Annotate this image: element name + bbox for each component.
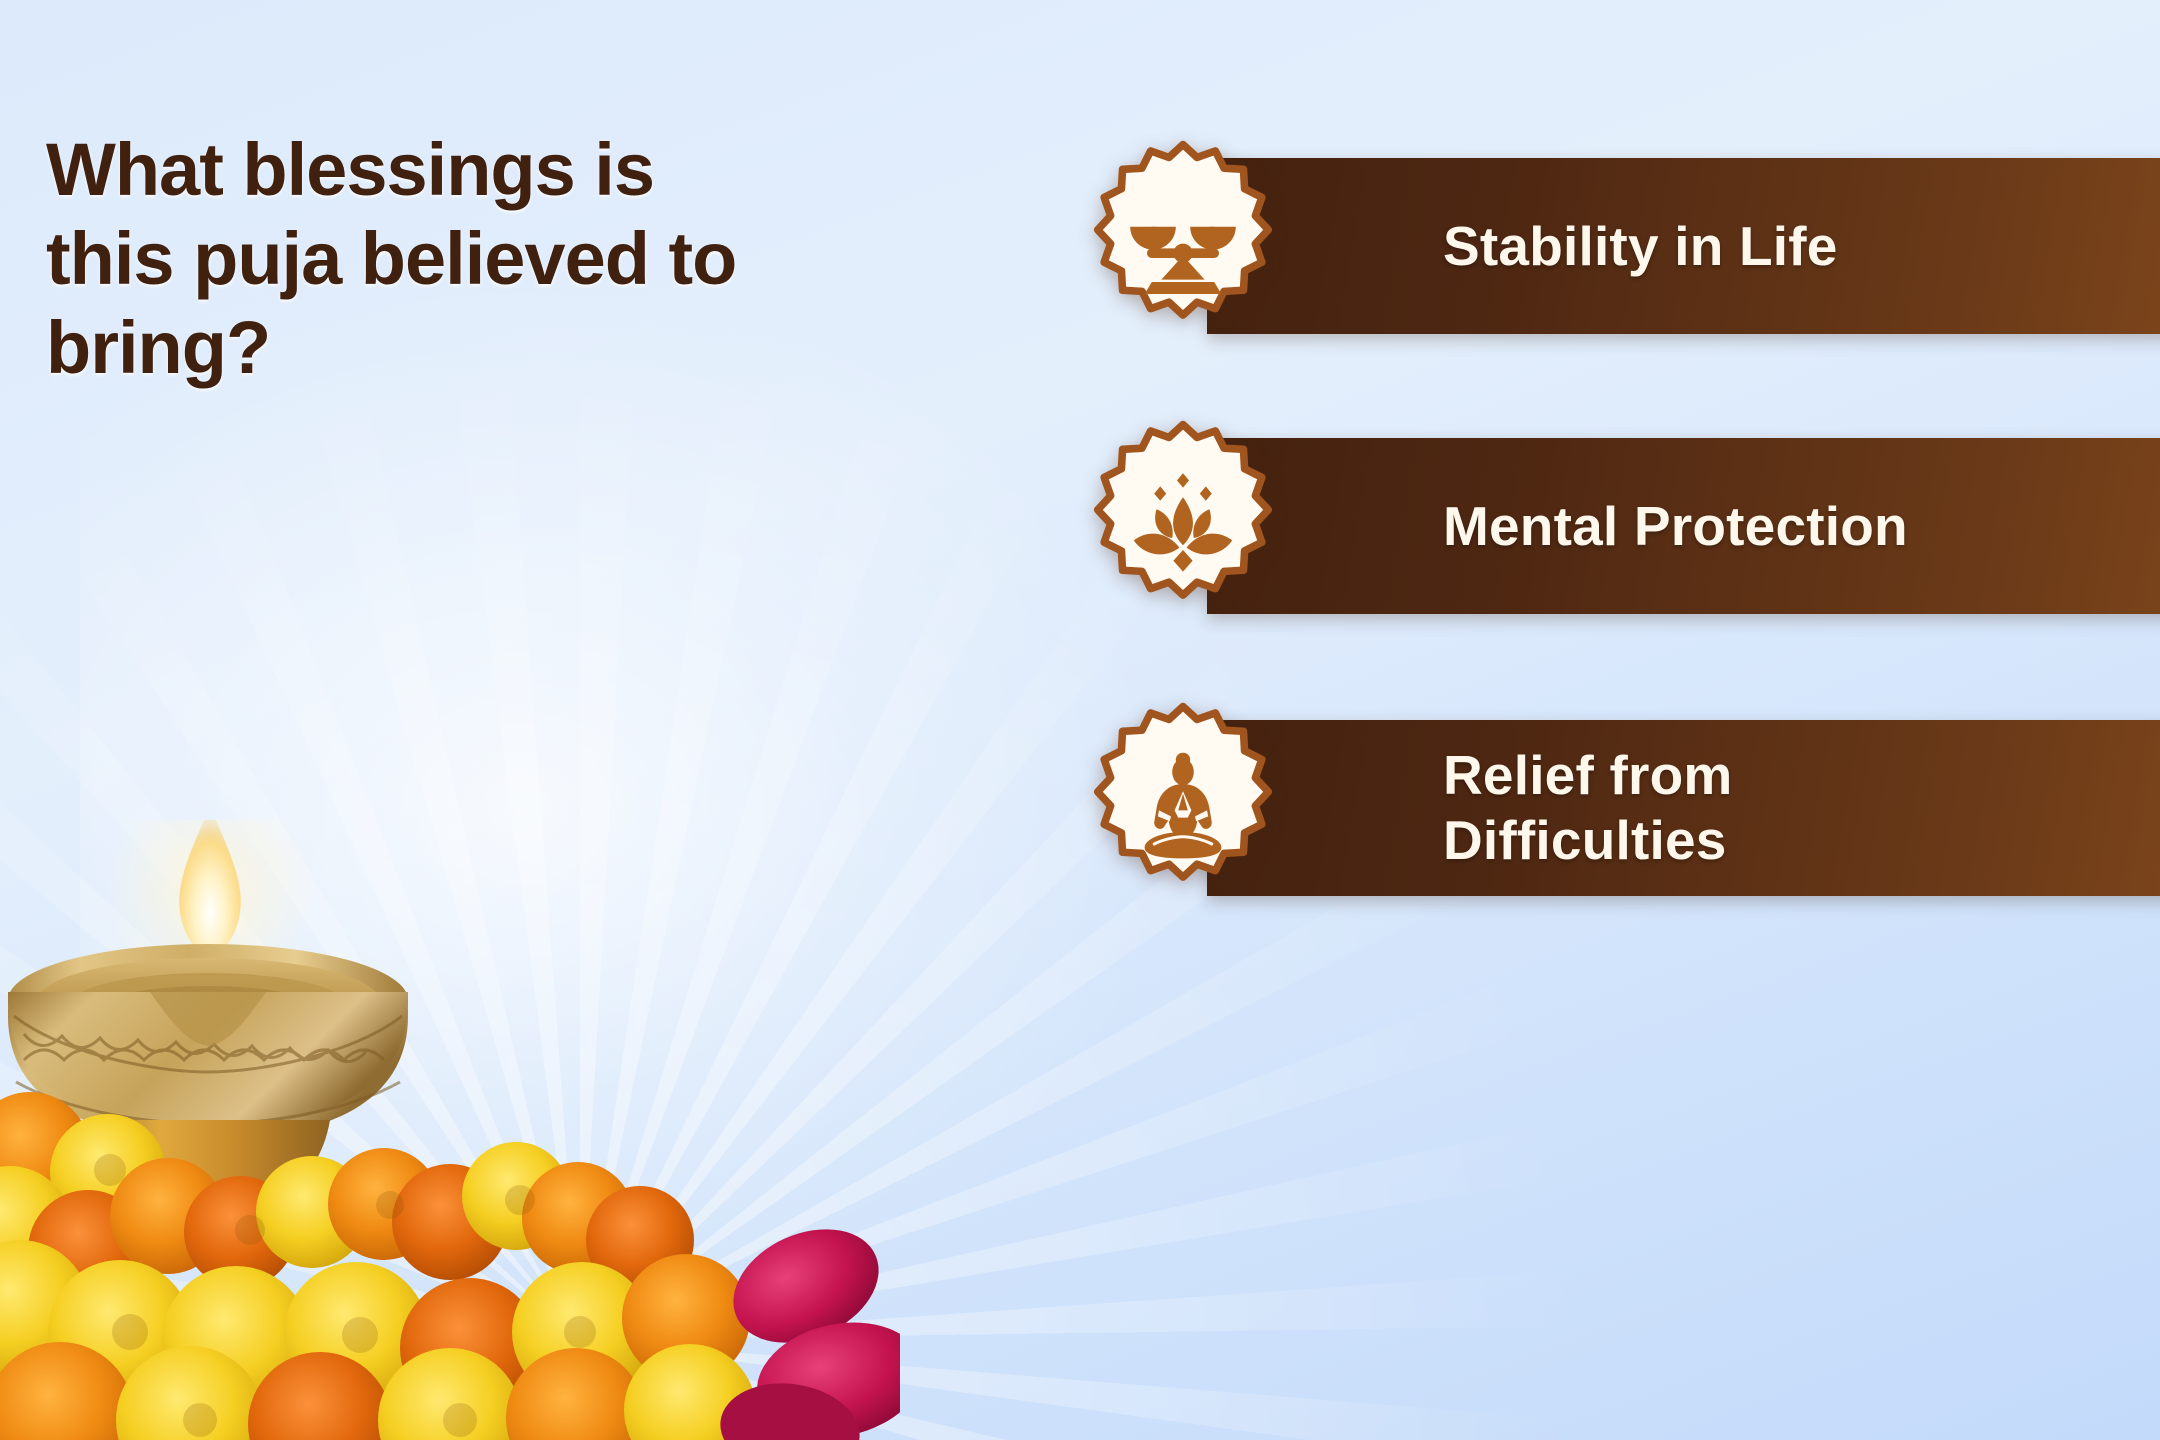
- balance-scale-icon: [1075, 138, 1291, 354]
- benefit-pill[interactable]: Mental Protection: [1207, 438, 2160, 614]
- benefit-label: Mental Protection: [1443, 494, 1908, 559]
- benefit-pill[interactable]: Stability in Life: [1207, 158, 2160, 334]
- benefit-badge: [1075, 700, 1291, 916]
- benefit-label: Relief from Difficulties: [1443, 743, 1732, 873]
- benefits-list: Stability in Life: [0, 0, 2160, 1440]
- infographic-canvas: What blessings is this puja believed to …: [0, 0, 2160, 1440]
- lotus-flower-icon: [1075, 418, 1291, 634]
- benefit-badge: [1075, 138, 1291, 354]
- benefit-label: Stability in Life: [1443, 214, 1838, 279]
- meditation-figure-icon: [1075, 700, 1291, 916]
- benefit-badge: [1075, 418, 1291, 634]
- benefit-pill[interactable]: Relief from Difficulties: [1207, 720, 2160, 896]
